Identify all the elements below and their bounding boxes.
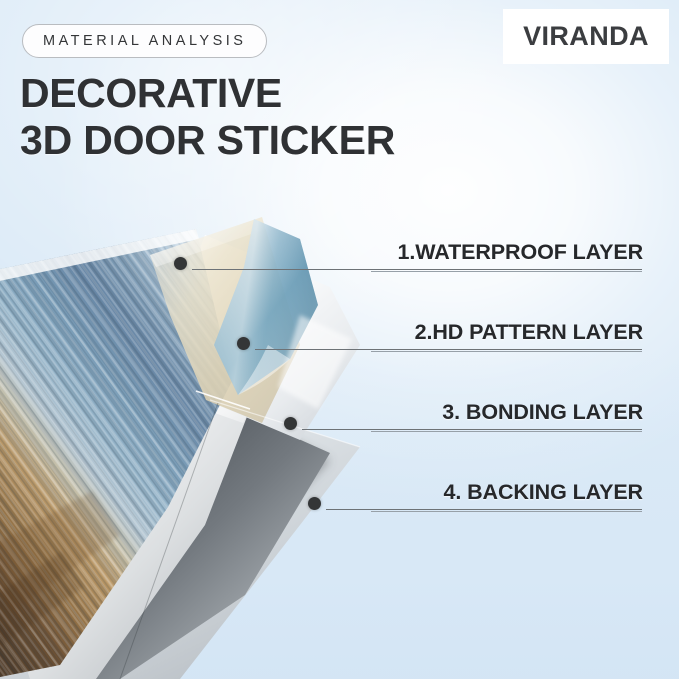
callout-label-3-text: 3. BONDING LAYER — [442, 400, 643, 424]
callout-connector-4 — [326, 509, 642, 510]
callout-dot-2 — [237, 337, 250, 350]
callout-label-4: 4. BACKING LAYER — [443, 480, 643, 505]
page-title: DECORATIVE 3D DOOR STICKER — [20, 70, 395, 164]
page-title-line-1: DECORATIVE — [20, 70, 395, 117]
callout-rule-3 — [371, 431, 642, 432]
callout-label-4-text: 4. BACKING LAYER — [443, 480, 643, 504]
callout-dot-1 — [174, 257, 187, 270]
brand-logo-text: VIRANDA — [523, 21, 649, 52]
material-analysis-badge: MATERIAL ANALYSIS — [22, 24, 267, 58]
page-title-line-2: 3D DOOR STICKER — [20, 117, 395, 164]
callout-label-1: 1.WATERPROOF LAYER — [398, 240, 643, 265]
callout-dot-4 — [308, 497, 321, 510]
callout-connector-2 — [255, 349, 642, 350]
infographic-canvas: MATERIAL ANALYSIS DECORATIVE 3D DOOR STI… — [0, 0, 679, 679]
callout-dot-3 — [284, 417, 297, 430]
brand-logo: VIRANDA — [503, 9, 669, 64]
callout-rule-2 — [371, 351, 642, 352]
callout-label-2-text: 2.HD PATTERN LAYER — [415, 320, 643, 344]
sticker-cutaway-illustration — [0, 195, 480, 679]
badge-label: MATERIAL ANALYSIS — [43, 33, 246, 49]
callout-connector-1 — [192, 269, 642, 270]
callout-label-1-text: 1.WATERPROOF LAYER — [398, 240, 643, 264]
callout-connector-3 — [302, 429, 642, 430]
callout-rule-1 — [371, 271, 642, 272]
callout-label-2: 2.HD PATTERN LAYER — [415, 320, 643, 345]
callout-rule-4 — [371, 511, 642, 512]
callout-label-3: 3. BONDING LAYER — [442, 400, 643, 425]
